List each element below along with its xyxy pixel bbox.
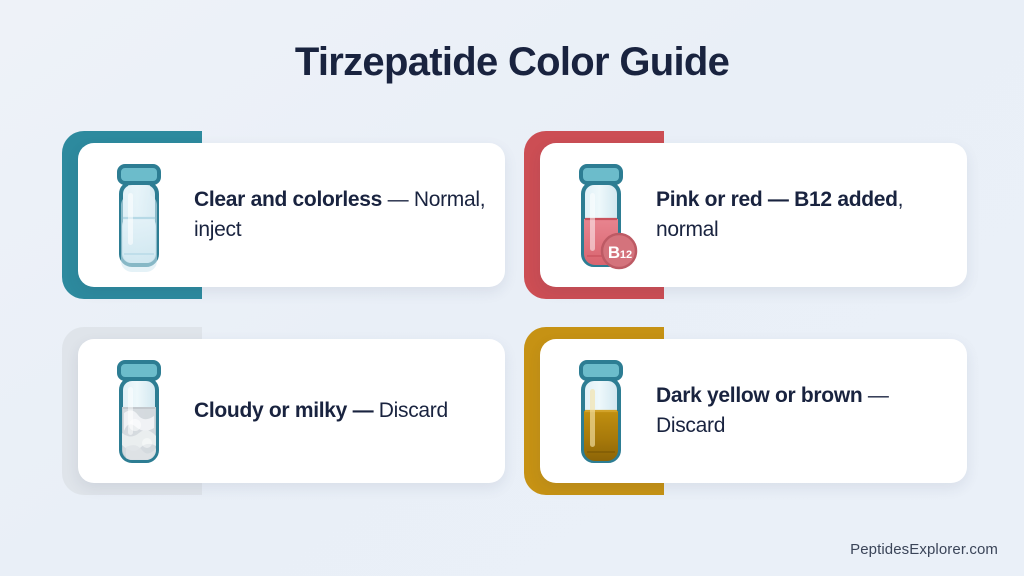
card-panel: B 12 Pink or red — B12 added, normal [540,143,967,287]
card-cloudy-milky: Cloudy or milky — Discard [62,327,505,495]
card-label: Pink or red — B12 added, normal [656,185,949,245]
card-grid: Clear and colorless — Normal, inject [62,131,967,495]
card-label: Cloudy or milky — Discard [194,396,487,426]
card-label-bold: Cloudy or milky — [194,399,373,422]
card-dark-yellow-brown: Dark yellow or brown — Discard [524,327,967,495]
card-label-bold: Clear and colorless [194,188,382,211]
vial-amber-icon [564,351,638,471]
page-title: Tirzepatide Color Guide [0,40,1024,85]
card-label-bold: Pink or red — B12 added [656,188,898,211]
card-label-bold: Dark yellow or brown [656,384,862,407]
b12-badge: B 12 [602,234,636,268]
svg-text:B: B [608,243,620,262]
vial-pink-icon: B 12 [564,155,638,275]
card-label: Clear and colorless — Normal, inject [194,185,487,245]
vial-cloudy-icon [102,351,176,471]
card-clear-colorless: Clear and colorless — Normal, inject [62,131,505,299]
infographic-page: Tirzepatide Color Guide [0,0,1024,576]
card-label: Dark yellow or brown — Discard [656,381,949,441]
card-panel: Cloudy or milky — Discard [78,339,505,483]
card-label-regular: Discard [373,399,448,422]
card-panel: Dark yellow or brown — Discard [540,339,967,483]
card-pink-red-b12: B 12 Pink or red — B12 added, normal [524,131,967,299]
svg-text:12: 12 [620,249,632,261]
footer-watermark: PeptidesExplorer.com [850,541,998,558]
card-panel: Clear and colorless — Normal, inject [78,143,505,287]
vial-clear-icon [102,155,176,275]
